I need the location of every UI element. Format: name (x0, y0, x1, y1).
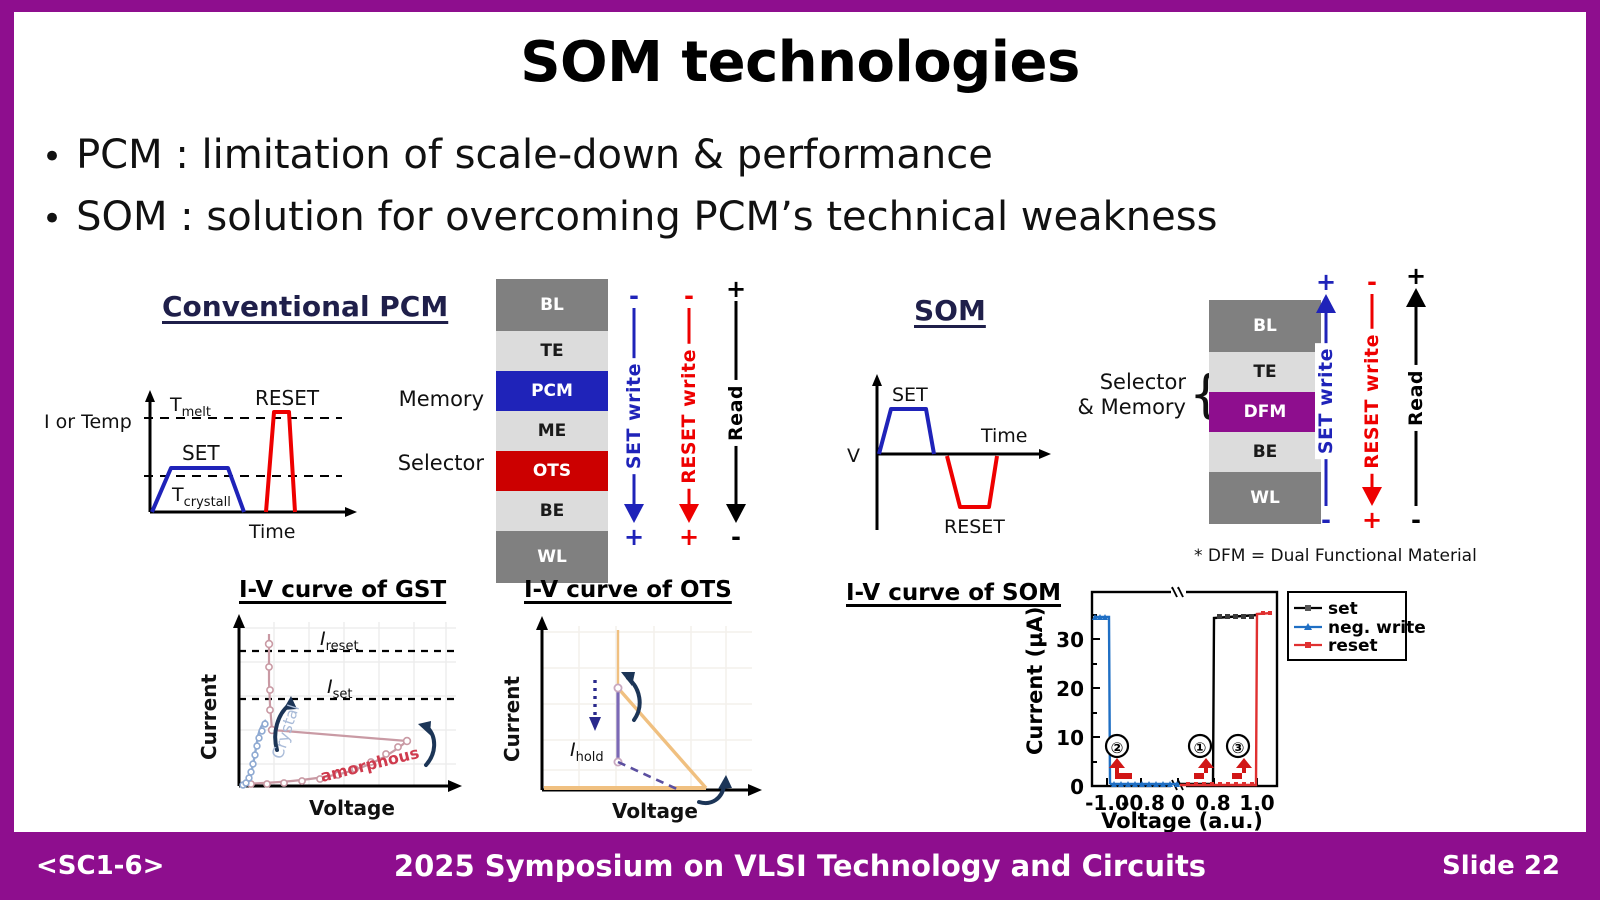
arrow-top-sign: + (726, 277, 746, 301)
som-legend: set neg. write reset (1288, 592, 1426, 660)
som-ytick-0: 0 (1070, 775, 1084, 799)
arrow-bottom-sign: + (624, 525, 644, 549)
som-y-axis-label: V (847, 445, 860, 467)
som-x-axis-label: Voltage (a.u.) (1101, 809, 1263, 833)
som-x-axis-label: Time (980, 425, 1028, 447)
slide-footer: <SC1-6> 2025 Symposium on VLSI Technolog… (14, 832, 1586, 900)
arrow-top-sign: - (684, 284, 694, 308)
dfm-footnote: * DFM = Dual Functional Material (1194, 546, 1477, 566)
svg-text:①: ① (1194, 739, 1207, 757)
som-ytick-30: 30 (1056, 628, 1084, 652)
legend-label-neg-write: neg. write (1328, 618, 1426, 638)
stack-layer-dfm: DFM (1209, 392, 1321, 432)
pcm-set-label: SET (182, 441, 220, 465)
arrow-top-sign: - (629, 284, 639, 308)
arrow-top-sign: + (1406, 264, 1426, 288)
stack-layer-be: BE (1209, 432, 1321, 472)
arrow-label: Read (725, 380, 747, 446)
arrow-label: RESET write (1361, 329, 1383, 474)
stack-layer-wl: WL (1209, 472, 1321, 524)
svg-text:③: ③ (1232, 739, 1245, 757)
stack-layer-pcm: PCM (496, 371, 608, 411)
arrow-label: Read (1405, 365, 1427, 431)
slide-root: SOM technologies • PCM : limitation of s… (0, 0, 1600, 900)
ots-y-axis-label: Current (500, 676, 524, 762)
som-pulse-chart: V SET RESET Time (829, 370, 1079, 550)
pcm-stack-group-label-memory: Memory Selector (394, 307, 484, 475)
pcm-pulse-chart: I or Temp Tmelt Tcrystall SET RESET Time (44, 384, 364, 549)
bullet-marker-icon: • (42, 140, 62, 174)
bullet-text-2: SOM : solution for overcoming PCM’s tech… (76, 194, 1217, 240)
gst-y-axis-label: Current (197, 674, 221, 760)
legend-label-set: set (1328, 599, 1358, 619)
arrow-label: SET write (623, 358, 645, 474)
pcm-x-axis-label: Time (248, 521, 296, 543)
ots-x-axis-label: Voltage (612, 799, 698, 823)
stack-layer-ots: OTS (496, 451, 608, 491)
chart-title-ots: I-V curve of OTS (524, 577, 732, 603)
pcm-reset-label: RESET (255, 386, 320, 410)
stack-layer-te: TE (1209, 352, 1321, 392)
pcm-arrow-set-write: - SET write + (614, 284, 654, 549)
som-stack-group-label: Selector & Memory (1056, 370, 1186, 420)
gst-amorphous-label: amorphous (318, 743, 421, 786)
arrow-bottom-sign: + (679, 525, 699, 549)
som-reset-label: RESET (944, 516, 1005, 538)
footer-slide-number: Slide 22 (1442, 851, 1560, 881)
som-set-label: SET (892, 384, 928, 406)
som-arrow-set-write: + SET write - (1306, 270, 1346, 532)
stack-layer-bl: BL (1209, 300, 1321, 352)
arrow-top-sign: + (1316, 270, 1336, 294)
som-arrow-reset-write: - RESET write + (1352, 270, 1392, 532)
stack-layer-wl: WL (496, 531, 608, 583)
arrow-label: RESET write (678, 344, 700, 489)
arrow-bottom-sign: - (731, 525, 741, 549)
page-title: SOM technologies (14, 30, 1586, 95)
bullet-text-1: PCM : limitation of scale-down & perform… (76, 132, 993, 178)
chart-gst: Ireset Iset Crystal amorphous Current Vo… (194, 610, 474, 820)
bullet-item-1: • PCM : limitation of scale-down & perfo… (42, 132, 993, 178)
pcm-tmelt-label: Tmelt (169, 394, 211, 420)
pcm-arrow-read: + Read - (716, 277, 756, 549)
pcm-y-axis-label: I or Temp (44, 411, 132, 433)
pcm-arrow-reset-write: - RESET write + (669, 284, 709, 549)
som-arrow-read: + Read - (1396, 264, 1436, 532)
stack-layer-me: ME (496, 411, 608, 451)
som-ytick-20: 20 (1056, 677, 1084, 701)
chart-som: 0 10 20 30 -1.0 -0.8 0 0.8 1.0 (1014, 570, 1414, 826)
arrow-bottom-sign: - (1411, 508, 1421, 532)
arrow-bottom-sign: - (1321, 508, 1331, 532)
arrow-bottom-sign: + (1362, 508, 1382, 532)
pcm-material-stack: BL TE PCM ME OTS BE WL (496, 279, 608, 583)
footer-session-id: <SC1-6> (36, 851, 164, 881)
som-material-stack: BL TE DFM BE WL (1209, 300, 1321, 524)
arrow-label: SET write (1315, 343, 1337, 459)
gst-ireset-label: Ireset (320, 628, 359, 654)
som-y-axis-label: Current (µA) (1023, 606, 1047, 755)
svg-text:②: ② (1111, 739, 1124, 757)
footer-conference-title: 2025 Symposium on VLSI Technology and Ci… (14, 849, 1586, 883)
legend-label-reset: reset (1328, 636, 1378, 656)
stack-layer-be: BE (496, 491, 608, 531)
chart-title-gst: I-V curve of GST (239, 577, 446, 603)
ots-ihold-label: Ihold (570, 739, 604, 765)
pcm-tcrystall-label: Tcrystall (171, 484, 231, 510)
bullet-marker-icon: • (42, 202, 62, 236)
chart-ots: Ihold Current Voltage (494, 610, 774, 822)
stack-layer-bl: BL (496, 279, 608, 331)
arrow-top-sign: - (1367, 270, 1377, 294)
bullet-item-2: • SOM : solution for overcoming PCM’s te… (42, 194, 1217, 240)
gst-x-axis-label: Voltage (309, 796, 395, 820)
stack-layer-te: TE (496, 331, 608, 371)
heading-som: SOM (914, 294, 986, 327)
som-ytick-10: 10 (1056, 726, 1084, 750)
